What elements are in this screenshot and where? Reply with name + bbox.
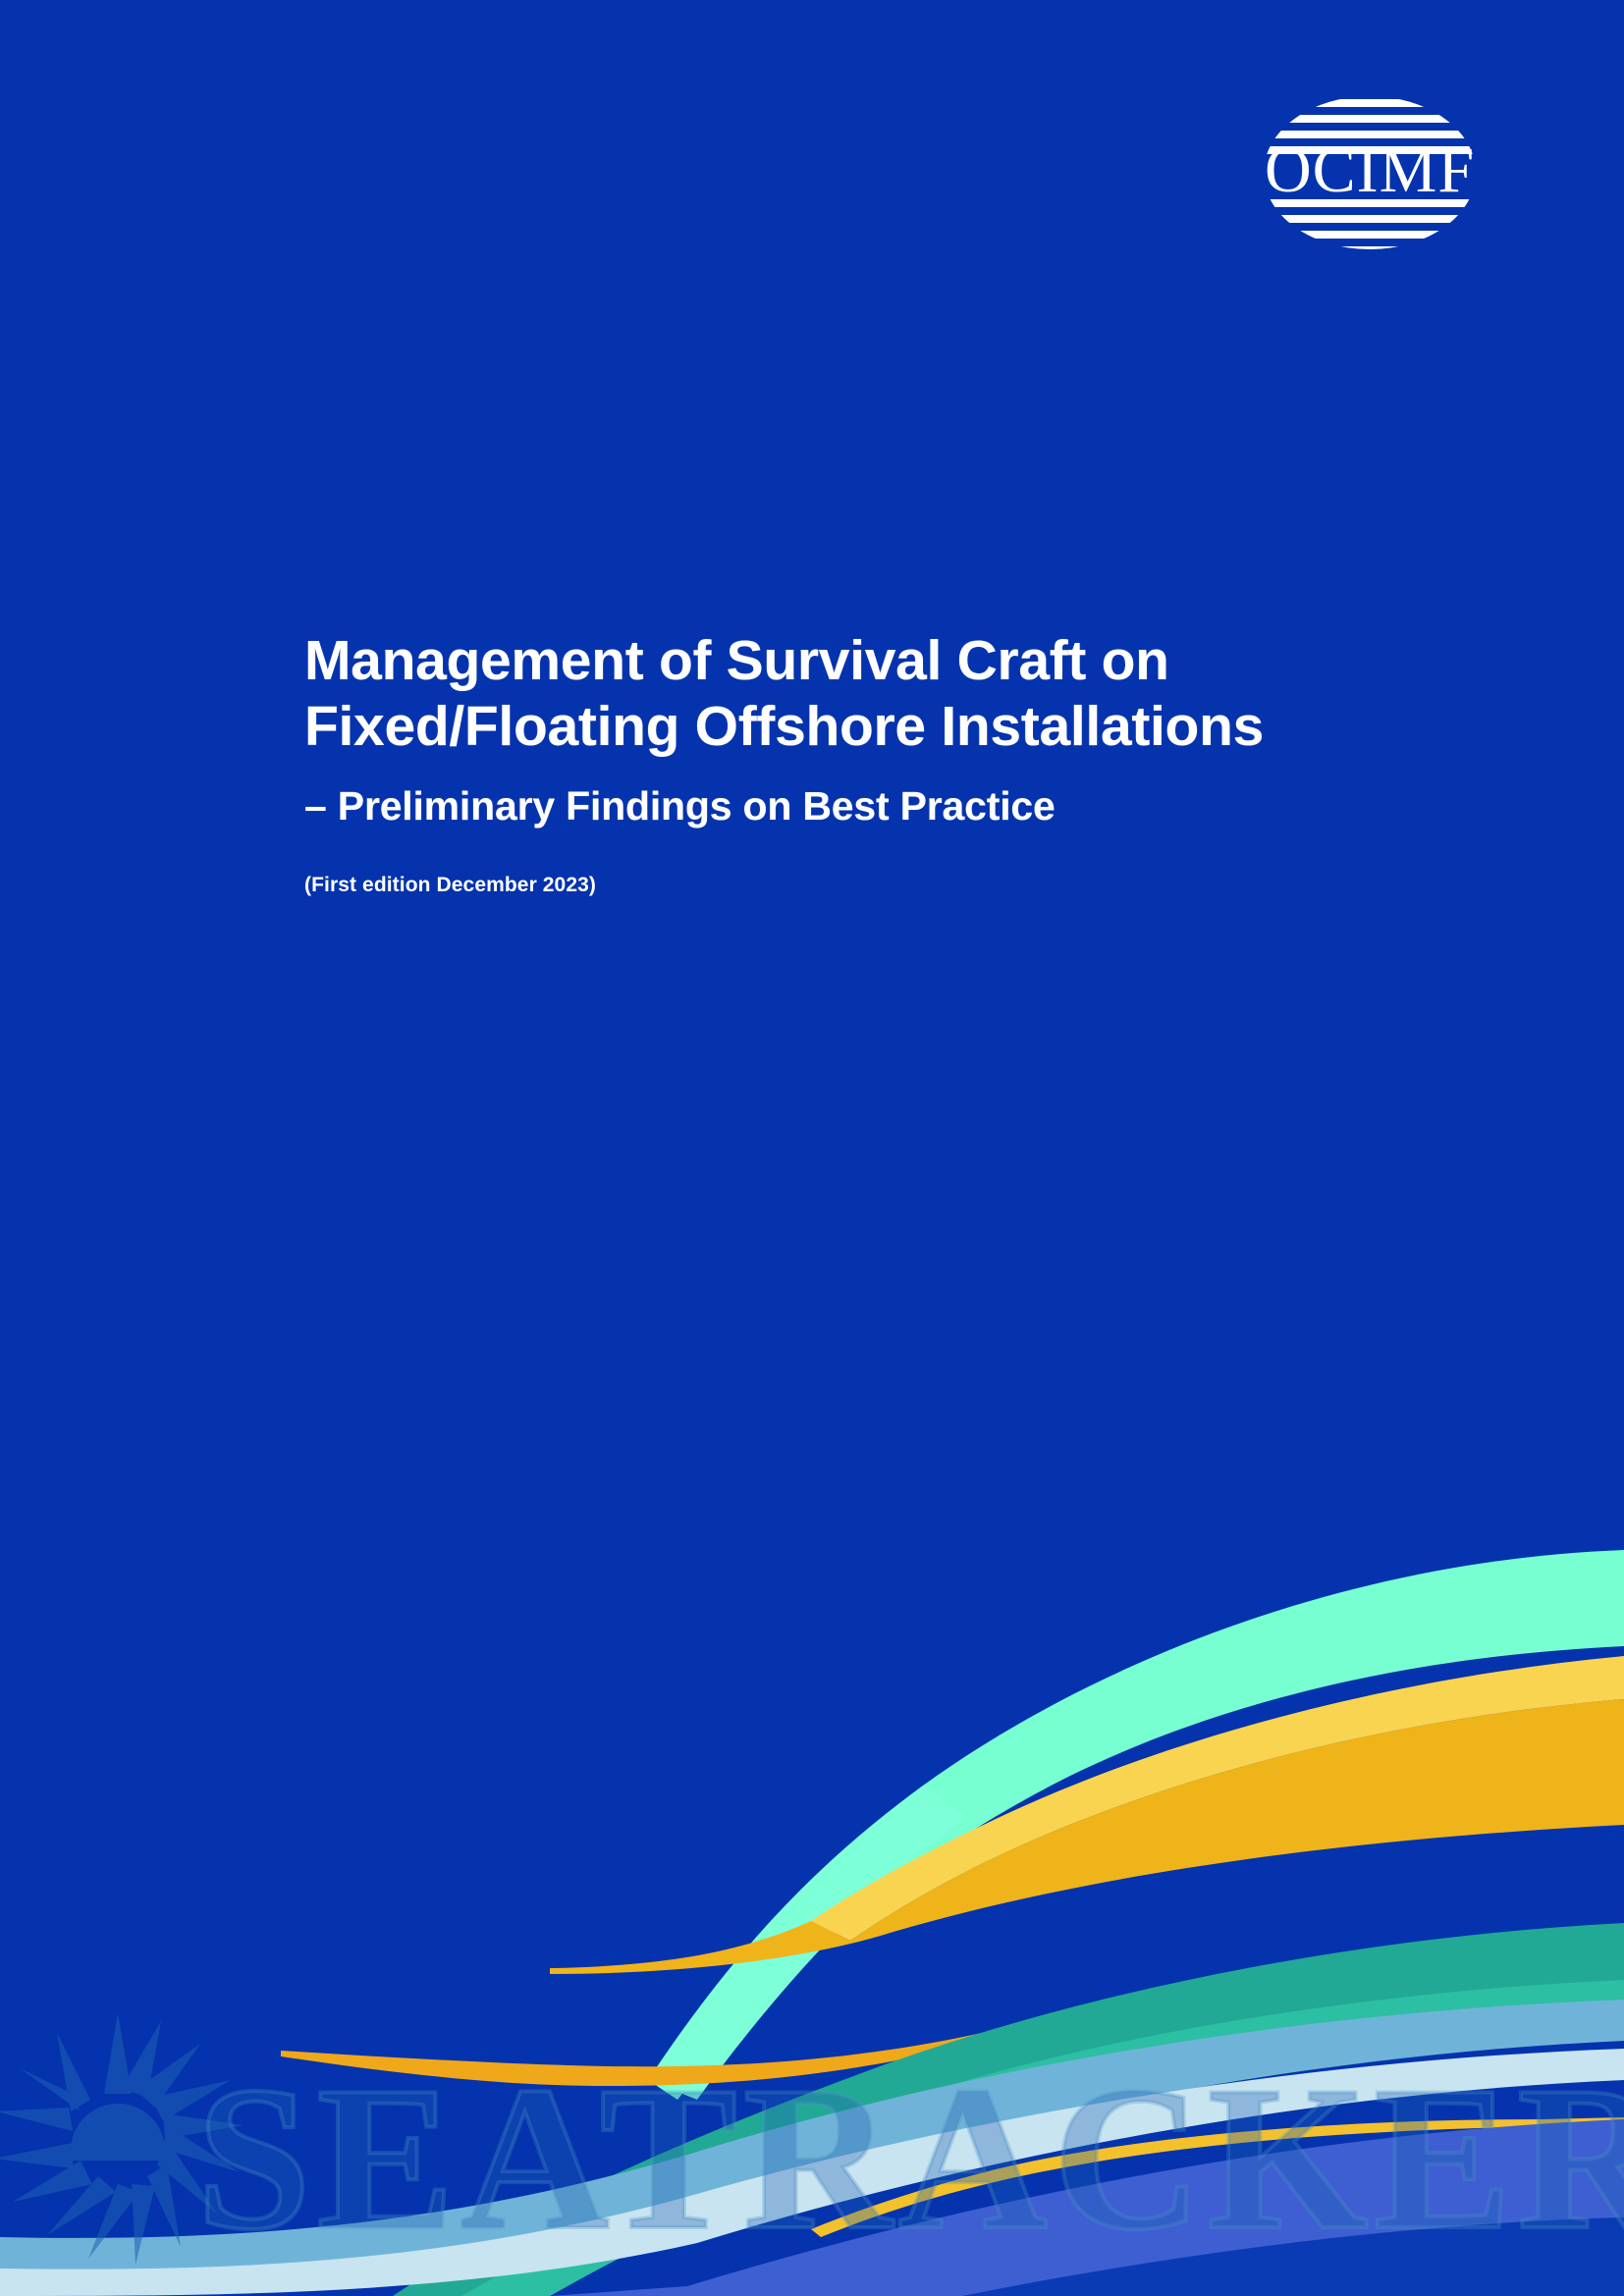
- logo-wordmark: OCIMF: [1265, 134, 1475, 206]
- wave-shape-mint: [648, 1550, 1624, 2100]
- wave-shape-teal: [393, 1923, 1624, 2296]
- wave-shape-mint-tail: [648, 1786, 967, 2100]
- title-block: Management of Survival Craft on Fixed/Fl…: [304, 628, 1384, 897]
- document-cover-page: SEATRACKER.RU OCIMF Manage: [0, 0, 1624, 2296]
- ocimf-logo: OCIMF: [1222, 75, 1517, 271]
- page-title: Management of Survival Craft on Fixed/Fl…: [304, 628, 1296, 761]
- page-subtitle: – Preliminary Findings on Best Practice: [304, 782, 1384, 830]
- wave-shape-teal-light: [461, 1980, 1624, 2296]
- wave-graphic: [0, 1530, 1624, 2296]
- wave-shape-gold-lower: [550, 1699, 1624, 1974]
- wave-shape-sky-blue: [0, 2000, 1624, 2296]
- wave-shape-gold-upper: [811, 1656, 1624, 1941]
- watermark-text: SEATRACKER.RU: [196, 2045, 1624, 2272]
- wave-shape-gold-spike-left: [281, 2033, 982, 2086]
- wave-shape-pale-blue: [0, 2049, 1624, 2296]
- wave-shape-gold-spike-down: [811, 2117, 1624, 2237]
- seatracker-watermark: SEATRACKER.RU: [0, 1943, 1624, 2296]
- wave-shape-royal-blue-2: [550, 2119, 1624, 2296]
- sunburst-icon: [0, 2013, 244, 2265]
- edition-label: (First edition December 2023): [304, 874, 1384, 897]
- wave-shape-royal-blue: [677, 2139, 1624, 2296]
- wave-shape-navy: [962, 2217, 1624, 2296]
